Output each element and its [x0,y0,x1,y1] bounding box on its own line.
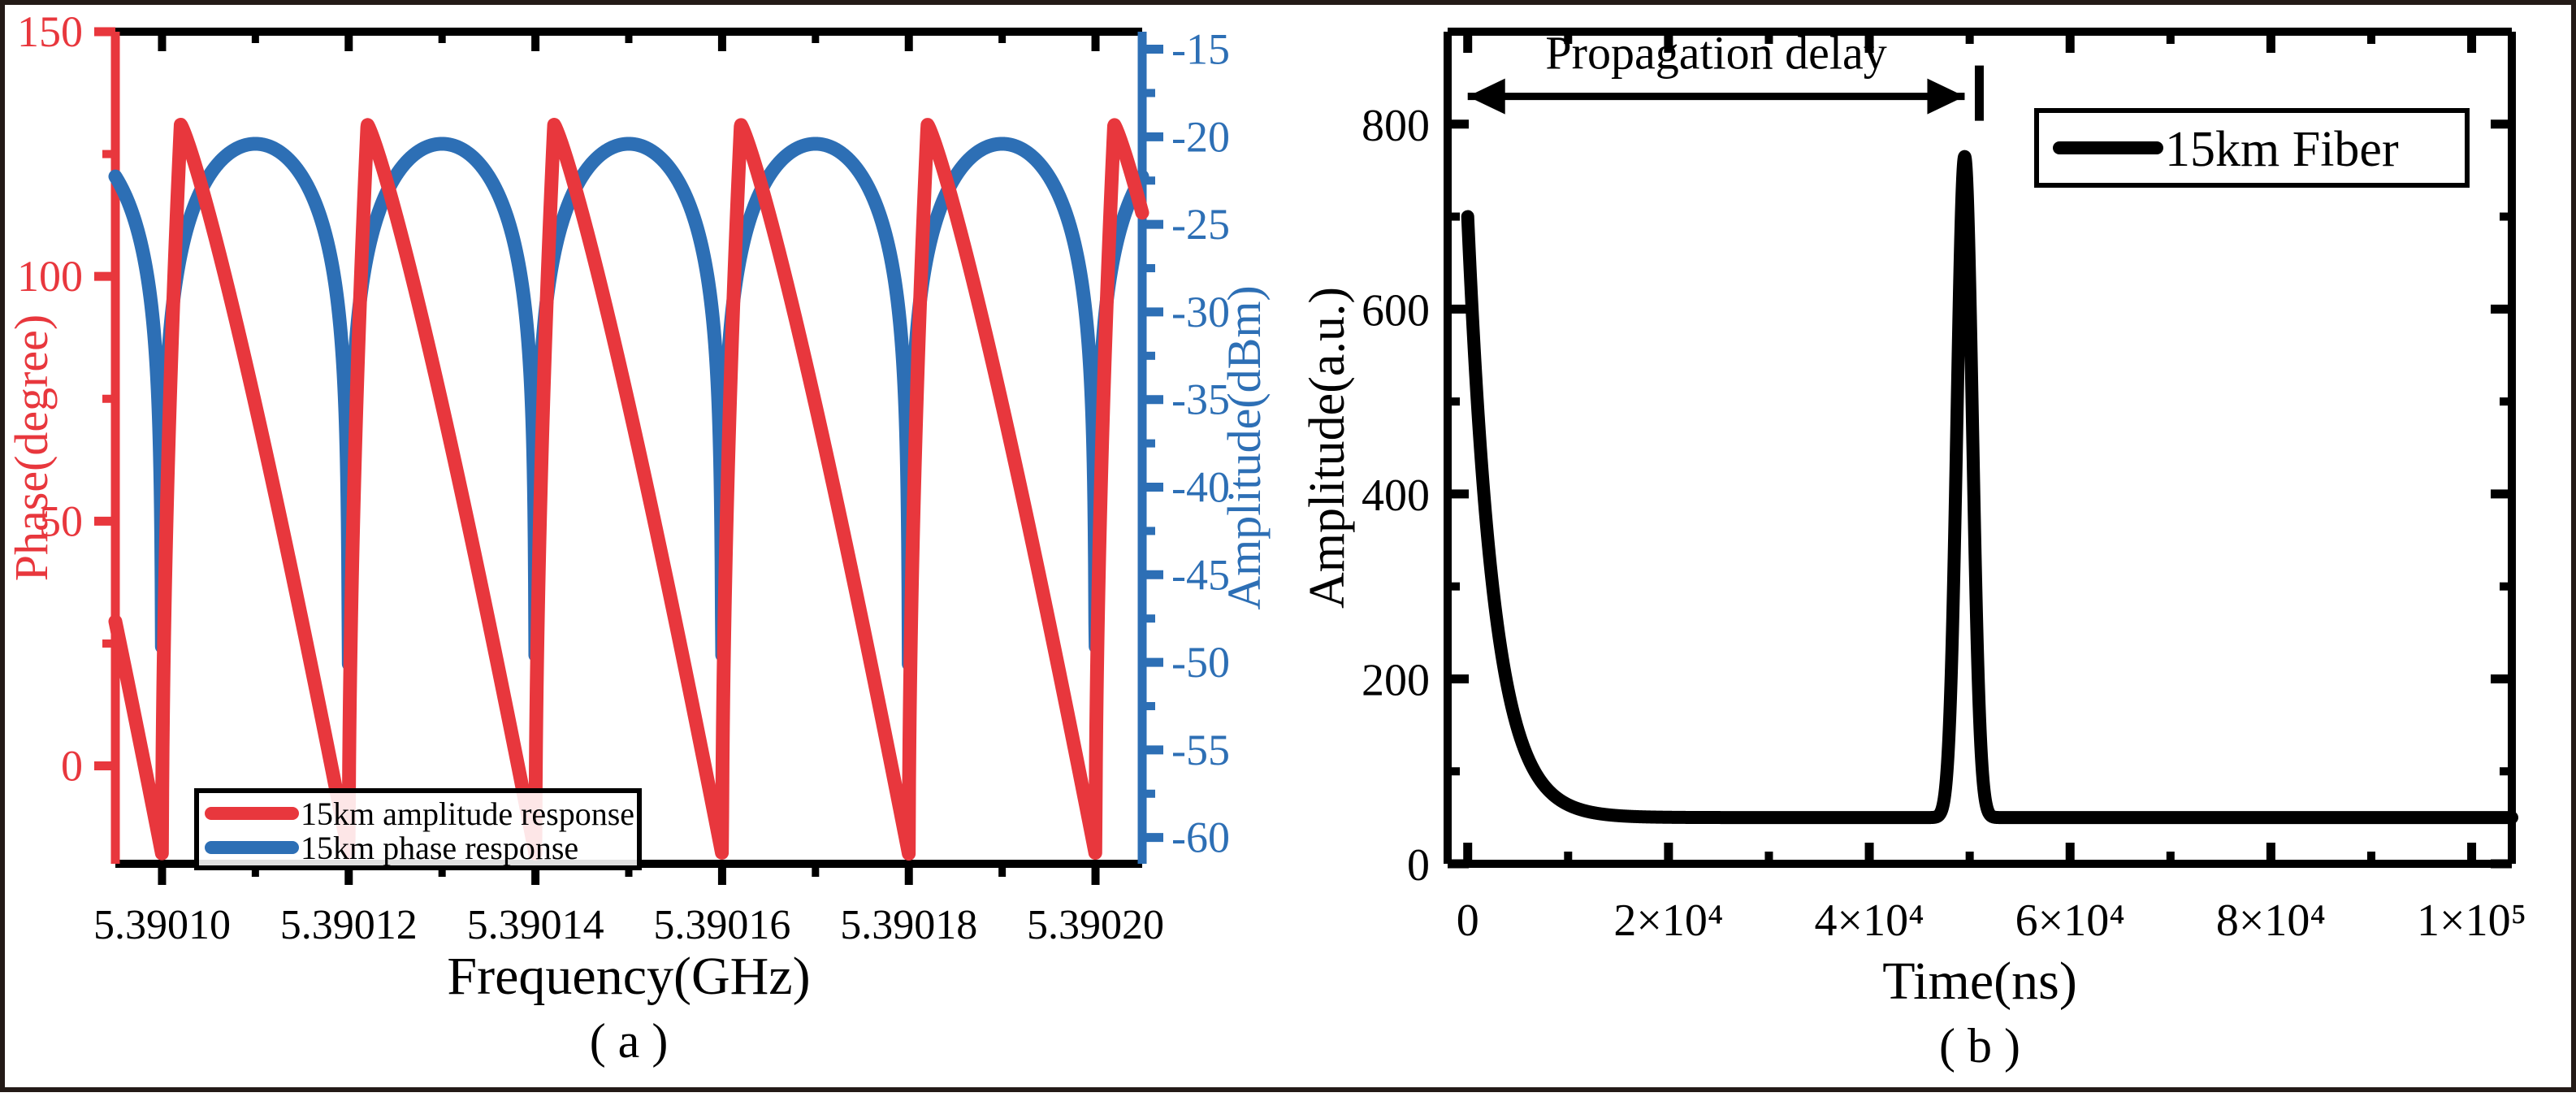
y-axis-label: Amplitude(a.u.) [1300,287,1355,609]
legend-label-1: 15km phase response [301,830,578,866]
x-tick-label: 8×10⁴ [2216,895,2326,946]
x-tick-label: 0 [1457,895,1479,946]
arrow-head-left-icon [1468,79,1505,115]
propagation-delay-label: Propagation delay [1545,27,1886,80]
panel-caption-b: ( b ) [1939,1019,2020,1073]
x-tick-label: 4×10⁴ [1815,895,1924,946]
panel-caption-a: ( a ) [590,1014,669,1068]
x-tick-label: 6×10⁴ [2015,895,2125,946]
y-tick-label-right: -60 [1171,813,1230,862]
legend-label-0: 15km amplitude response [301,796,634,832]
y-tick-label-left: 0 [61,742,83,791]
y-tick-label-left: 150 [17,7,83,56]
y-tick-label-left: 100 [17,252,83,301]
x-tick-label: 5.39020 [1027,902,1164,948]
x-tick-label: 5.39012 [280,902,418,948]
panel-b: 02×10⁴4×10⁴6×10⁴8×10⁴1×10⁵0200400600800A… [1293,5,2576,1097]
figure-container: 5.390105.390125.390145.390165.390185.390… [0,0,2576,1092]
y-tick-label: 800 [1362,101,1430,151]
x-tick-label: 2×10⁴ [1613,895,1723,946]
x-tick-label: 5.39018 [840,902,977,948]
x-tick-label: 5.39010 [93,902,231,948]
y-tick-label-right: -25 [1171,200,1230,249]
y-axis-label-right: Amplitude(dBm) [1218,285,1271,610]
fiber-response-curve [1468,157,2512,818]
y-tick-label-right: -50 [1171,638,1230,687]
y-axis-label-left: Phase(degree) [5,314,58,582]
panel-a-group: 5.390105.390125.390145.390165.390185.390… [5,7,1271,1068]
y-tick-label: 400 [1362,470,1430,521]
panel-a-plot: 5.390105.390125.390145.390165.390185.390… [5,5,1293,1097]
panel-b-plot: 02×10⁴4×10⁴6×10⁴8×10⁴1×10⁵0200400600800A… [1293,5,2576,1097]
arrow-head-right-icon [1927,79,1964,115]
phase-response-curve [115,124,1142,853]
y-tick-label-right: -20 [1171,112,1230,161]
x-tick-label: 1×10⁵ [2417,895,2526,946]
y-tick-label: 200 [1362,655,1430,705]
x-tick-label: 5.39014 [467,902,604,948]
y-tick-label-right: -15 [1171,25,1230,74]
x-axis-label: Time(ns) [1882,952,2077,1011]
y-tick-label-right: -55 [1171,726,1230,774]
x-axis-label: Frequency(GHz) [447,947,810,1006]
legend-label-0: 15km Fiber [2165,122,2399,177]
panel-b-group: 02×10⁴4×10⁴6×10⁴8×10⁴1×10⁵0200400600800A… [1300,27,2526,1073]
y-tick-label: 600 [1362,285,1430,336]
panel-a: 5.390105.390125.390145.390165.390185.390… [5,5,1293,1097]
x-tick-label: 5.39016 [653,902,790,948]
y-tick-label: 0 [1407,840,1430,891]
